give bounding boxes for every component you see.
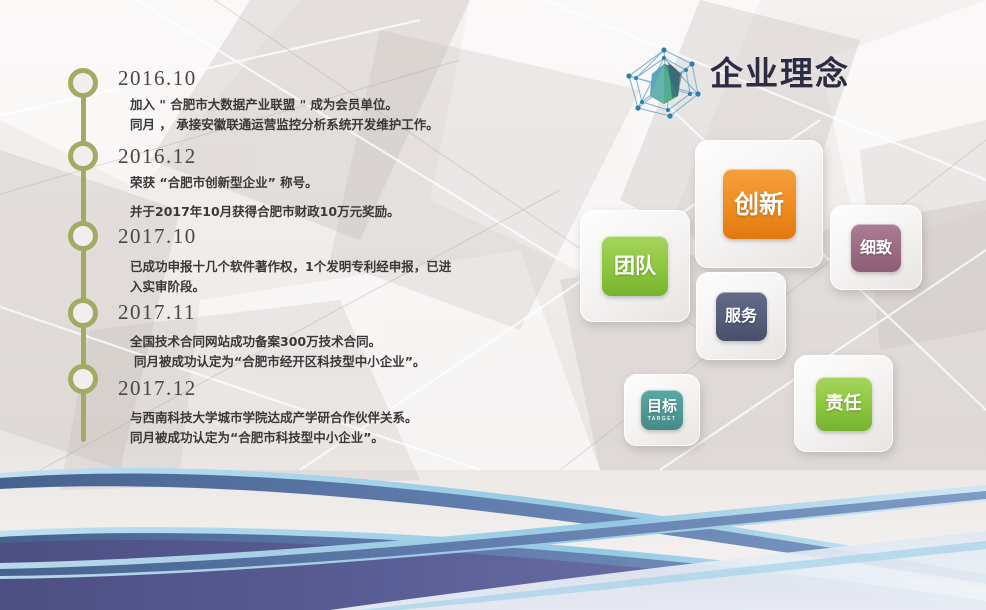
concept-card-target[interactable]: 目标 TARGET bbox=[624, 374, 700, 446]
concept-chip-meticulous: 细致 bbox=[851, 224, 901, 272]
timeline-node-4 bbox=[68, 298, 98, 328]
concept-chip-target: 目标 TARGET bbox=[641, 390, 683, 430]
concept-card-responsibility[interactable]: 责任 bbox=[794, 355, 893, 452]
timeline-entry-3: 2017.10 已成功申报十几个软件著作权，1个发明专利经申报，已进 入实审阶段… bbox=[118, 226, 451, 298]
concept-label-target: 目标 bbox=[647, 399, 677, 414]
timeline-text-4-1: 全国技术合同网站成功备案300万技术合同。 bbox=[130, 332, 425, 352]
timeline-entry-2: 2016.12 荣获 “合肥市创新型企业” 称号。 并于2017年10月获得合肥… bbox=[118, 146, 400, 223]
concept-chip-team: 团队 bbox=[602, 236, 668, 296]
timeline-text-1-1: 加入 " 合肥市大数据产业联盟 " 成为会员单位。 bbox=[130, 95, 439, 115]
timeline-entry-4: 2017.11 全国技术合同网站成功备案300万技术合同。 同月被成功认定为“合… bbox=[118, 302, 425, 373]
timeline-year-4: 2017.11 bbox=[118, 302, 425, 323]
timeline-text-2-1: 荣获 “合肥市创新型企业” 称号。 bbox=[130, 173, 400, 193]
timeline-text-4-2: 同月被成功认定为“合肥市经开区科技型中小企业”。 bbox=[134, 352, 425, 372]
concept-card-meticulous[interactable]: 细致 bbox=[830, 205, 922, 290]
concept-card-team[interactable]: 团队 bbox=[580, 210, 690, 322]
company-milestone-timeline: 2016.10 加入 " 合肥市大数据产业联盟 " 成为会员单位。 同月 ， 承… bbox=[0, 0, 520, 470]
concept-card-innovation[interactable]: 创新 bbox=[695, 140, 823, 268]
timeline-text-3-1: 已成功申报十几个软件著作权，1个发明专利经申报，已进 bbox=[130, 257, 451, 277]
timeline-year-3: 2017.10 bbox=[118, 226, 451, 247]
timeline-text-5-1: 与西南科技大学城市学院达成产学研合作伙伴关系。 bbox=[130, 408, 418, 428]
timeline-node-2 bbox=[68, 141, 98, 171]
concept-chip-responsibility: 责任 bbox=[816, 377, 872, 431]
concept-card-service[interactable]: 服务 bbox=[696, 272, 786, 360]
page-title: 企业理念 bbox=[710, 54, 850, 94]
slide-canvas: 2016.10 加入 " 合肥市大数据产业联盟 " 成为会员单位。 同月 ， 承… bbox=[0, 0, 986, 610]
timeline-year-1: 2016.10 bbox=[118, 68, 439, 89]
concept-card-group: 团队 创新 细致 服务 目标 TARGET 责任 bbox=[570, 130, 986, 465]
concept-sublabel-target: TARGET bbox=[648, 417, 677, 422]
timeline-node-5 bbox=[68, 364, 98, 394]
concept-chip-service: 服务 bbox=[716, 292, 767, 341]
timeline-node-3 bbox=[68, 221, 98, 251]
bottom-wave-decoration bbox=[0, 445, 986, 610]
timeline-year-2: 2016.12 bbox=[118, 146, 400, 167]
timeline-entry-5: 2017.12 与西南科技大学城市学院达成产学研合作伙伴关系。 同月被成功认定为… bbox=[118, 378, 418, 449]
timeline-node-1 bbox=[68, 68, 98, 98]
timeline-entry-1: 2016.10 加入 " 合肥市大数据产业联盟 " 成为会员单位。 同月 ， 承… bbox=[118, 68, 439, 136]
concept-chip-innovation: 创新 bbox=[723, 169, 796, 239]
polyhedron-gem-logo-icon bbox=[620, 44, 708, 124]
timeline-text-1-2: 同月 ， 承接安徽联通运营监控分析系统开发维护工作。 bbox=[130, 115, 439, 135]
concept-label-service: 服务 bbox=[725, 308, 757, 324]
section-heading: 企业理念 bbox=[620, 44, 960, 124]
concept-label-meticulous: 细致 bbox=[860, 240, 892, 256]
timeline-text-3-2: 入实审阶段。 bbox=[130, 277, 451, 297]
concept-label-team: 团队 bbox=[614, 256, 656, 277]
timeline-text-2-2: 并于2017年10月获得合肥市财政10万元奖励。 bbox=[130, 202, 400, 222]
concept-label-responsibility: 责任 bbox=[826, 395, 862, 413]
timeline-year-5: 2017.12 bbox=[118, 378, 418, 399]
concept-label-innovation: 创新 bbox=[734, 192, 784, 217]
